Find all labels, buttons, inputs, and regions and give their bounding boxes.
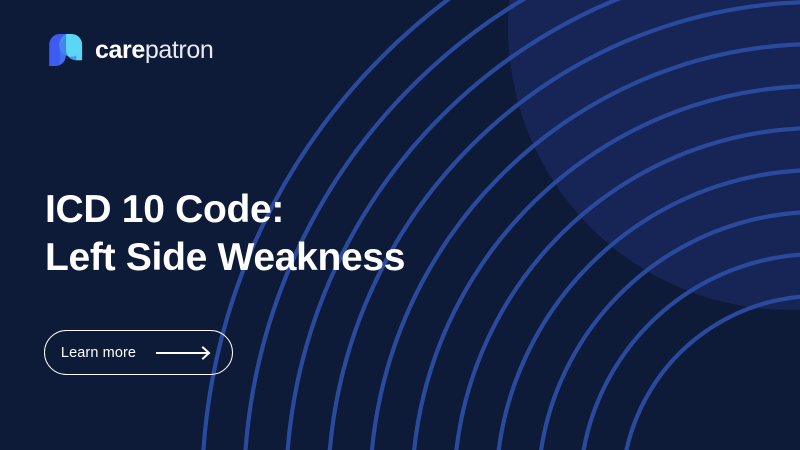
page-title-line-1: ICD 10 Code:: [45, 186, 405, 234]
decorative-arc: [370, 44, 800, 450]
wordmark-care: care: [95, 36, 145, 64]
decorative-arc: [580, 254, 800, 450]
hero-banner: carepatron ICD 10 Code: Left Side Weakne…: [0, 0, 800, 450]
decorative-circle: [508, 0, 800, 310]
decorative-arc: [496, 170, 800, 450]
carepatron-logo-mark: [46, 34, 86, 66]
page-title-line-2: Left Side Weakness: [45, 234, 405, 282]
carepatron-wordmark: carepatron: [95, 38, 213, 63]
decorative-arc: [454, 128, 800, 450]
decorative-arc: [622, 296, 800, 450]
wordmark-patron: patron: [145, 36, 214, 64]
decorative-arc: [538, 212, 800, 450]
carepatron-logo[interactable]: carepatron: [46, 33, 213, 67]
arrow-right-icon: [156, 346, 216, 360]
learn-more-label: Learn more: [61, 345, 136, 361]
learn-more-button[interactable]: Learn more: [44, 330, 233, 375]
decorative-arc: [412, 86, 800, 450]
page-title: ICD 10 Code: Left Side Weakness: [45, 186, 405, 282]
